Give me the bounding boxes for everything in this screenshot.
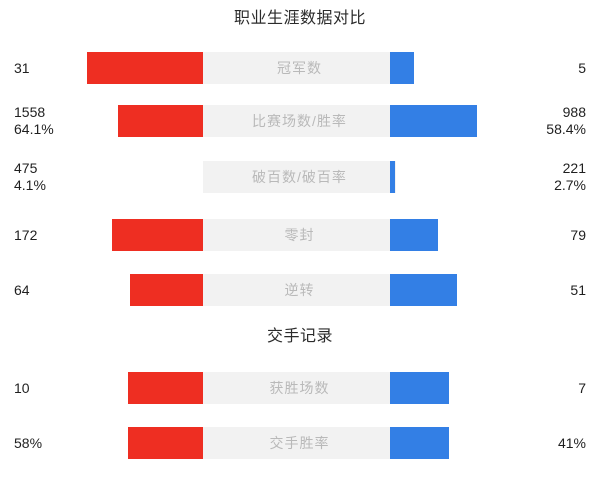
right-value: 51 [570,282,586,299]
left-subvalue: 4.1% [14,177,46,194]
stat-label: 破百数/破百率 [203,161,396,193]
right-value-group: 51 [466,270,586,310]
right-value: 41% [558,435,586,452]
stat-row: 1558 64.1% 比赛场数/胜率 988 58.4% [0,101,600,141]
left-value-group: 10 [14,368,134,408]
right-value-group: 221 2.7% [466,157,586,197]
right-bar [390,161,395,193]
left-value-group: 475 4.1% [14,157,134,197]
right-value: 221 [563,160,586,177]
stat-row: 64 逆转 51 [0,270,600,310]
section-title-head-to-head: 交手记录 [0,326,600,348]
left-value: 31 [14,60,30,77]
stat-label: 比赛场数/胜率 [203,105,396,137]
stat-label: 交手胜率 [203,427,396,459]
left-value: 172 [14,227,37,244]
left-bar [112,219,211,251]
right-bar [390,219,438,251]
right-value: 79 [570,227,586,244]
stat-row: 172 零封 79 [0,215,600,255]
stat-row: 58% 交手胜率 41% [0,423,600,463]
left-value: 475 [14,160,37,177]
right-bar [390,372,449,404]
left-subvalue: 64.1% [14,121,54,138]
right-value: 7 [578,380,586,397]
stat-label: 冠军数 [203,52,396,84]
right-value-group: 7 [466,368,586,408]
right-bar [390,105,477,137]
right-value-group: 41% [466,423,586,463]
right-value-group: 79 [466,215,586,255]
stat-label: 获胜场数 [203,372,396,404]
stat-row: 10 获胜场数 7 [0,368,600,408]
left-value-group: 58% [14,423,134,463]
right-bar [390,274,457,306]
left-bar [87,52,211,84]
right-value-group: 5 [466,48,586,88]
left-bar [128,427,211,459]
left-value: 10 [14,380,30,397]
stat-label: 逆转 [203,274,396,306]
left-bar [128,372,211,404]
right-subvalue: 2.7% [554,177,586,194]
left-bar [118,105,211,137]
left-value: 58% [14,435,42,452]
right-value: 988 [563,104,586,121]
right-bar [390,427,449,459]
left-value-group: 1558 64.1% [14,101,134,141]
left-bar [130,274,211,306]
career-comparison-chart: 职业生涯数据对比 31 冠军数 5 1558 64.1% 比赛场数/胜率 988… [0,0,600,480]
stat-label: 零封 [203,219,396,251]
right-subvalue: 58.4% [546,121,586,138]
left-value-group: 64 [14,270,134,310]
left-value: 64 [14,282,30,299]
right-value-group: 988 58.4% [466,101,586,141]
right-bar [390,52,414,84]
left-value: 1558 [14,104,45,121]
stat-row: 475 4.1% 破百数/破百率 221 2.7% [0,157,600,197]
stat-row: 31 冠军数 5 [0,48,600,88]
section-title-career: 职业生涯数据对比 [0,8,600,30]
right-value: 5 [578,60,586,77]
